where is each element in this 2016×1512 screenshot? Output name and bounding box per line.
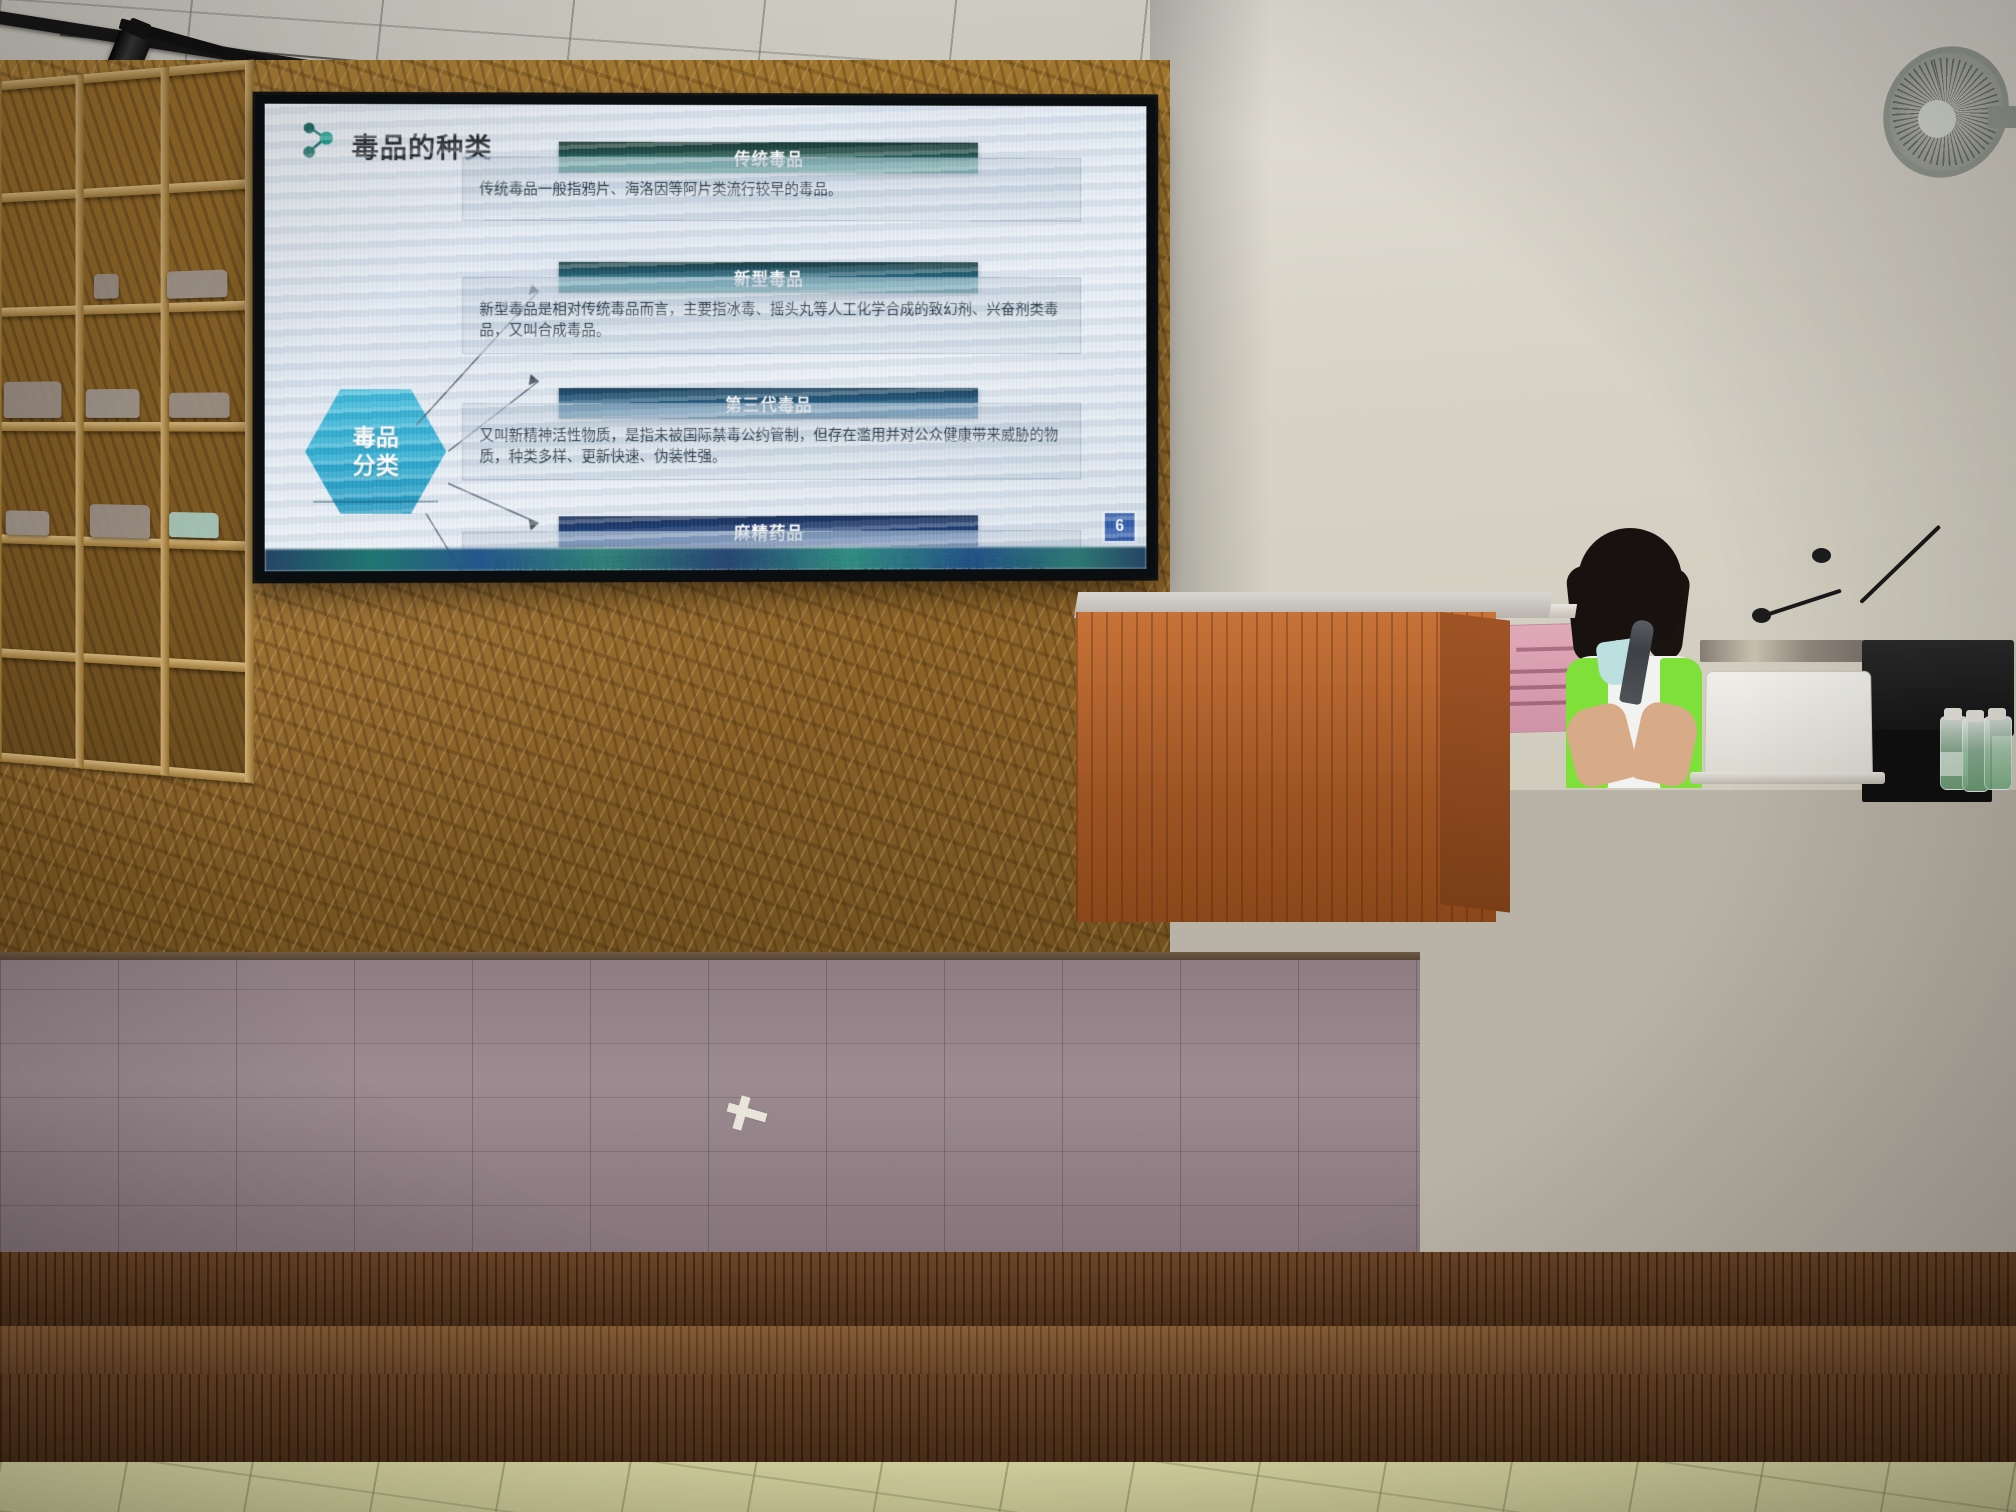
wall-fan-icon <box>1882 48 2010 176</box>
tile-floor <box>0 1462 2016 1512</box>
presentation-slide: 毒品的种类 毒品 分类 <box>265 104 1147 572</box>
shelf-rail <box>0 300 254 317</box>
hair-top <box>1578 528 1682 646</box>
mixer-knob-row[interactable] <box>1700 640 1880 662</box>
podium-side-panel <box>1440 612 1510 913</box>
cubby-display-shelving <box>0 59 254 782</box>
molecule-icon <box>301 122 347 162</box>
hexagon-label: 毒品 分类 <box>305 385 446 518</box>
presenter <box>1540 528 1720 788</box>
slide-number-badge: 6 <box>1103 511 1137 543</box>
step-tread-upper <box>0 1326 2016 1374</box>
laptop-screen[interactable]: hp <box>1704 671 1873 777</box>
gooseneck-mic-head-1 <box>1752 608 1771 623</box>
fan-hub <box>1918 100 1956 138</box>
pottery-item <box>94 273 119 299</box>
podium-front-panel <box>1076 612 1496 922</box>
card-item: 传统毒品 传统毒品一般指鸦片、海洛因等阿片类流行较早的毒品。 <box>462 156 1081 221</box>
lecture-hall-scene: 毒品的种类 毒品 分类 <box>0 0 2016 1512</box>
card-list: 传统毒品 传统毒品一般指鸦片、海洛因等阿片类流行较早的毒品。 新型毒品 新型毒品… <box>462 118 1101 571</box>
card-body: 传统毒品一般指鸦片、海洛因等阿片类流行较早的毒品。 <box>462 156 1081 221</box>
step-riser-lower <box>0 1374 2016 1462</box>
pottery-item <box>4 381 62 418</box>
bottle-cap <box>1966 710 1984 722</box>
hexagon-label-line1: 毒品 <box>353 423 399 451</box>
screen-surface: 毒品的种类 毒品 分类 <box>265 104 1147 572</box>
step-riser-upper <box>0 1252 2016 1326</box>
shelf-divider <box>161 67 169 775</box>
pottery-item <box>90 504 150 539</box>
classification-hexagon: 毒品 分类 <box>305 385 446 518</box>
pottery-item <box>86 389 140 418</box>
bottle-cap <box>1944 708 1962 720</box>
fan-mount-arm <box>1988 106 2016 128</box>
bottle-cap <box>1988 708 2006 720</box>
shelf-rail <box>0 648 254 673</box>
shelf-divider <box>0 81 2 760</box>
screen-bottom-artifact <box>265 547 1147 571</box>
card-body: 新型毒品是相对传统毒品而言，主要指冰毒、摇头丸等人工化学合成的致幻剂、兴奋剂类毒… <box>462 277 1081 354</box>
shelf-divider <box>76 74 84 768</box>
shelf-divider <box>245 59 254 782</box>
water-bottle <box>1984 716 2012 790</box>
card-body: 又叫新精神活性物质，是指未被国际禁毒公约管制，但存在滥用并对公众健康带来威胁的物… <box>462 403 1081 481</box>
shelf-cell-grid <box>0 59 254 782</box>
stage-floor <box>0 960 1420 1260</box>
hexagon-label-line2: 分类 <box>353 451 399 479</box>
shelf-rail <box>0 179 254 203</box>
pottery-item <box>6 510 50 535</box>
laptop-keyboard-base[interactable] <box>1690 772 1885 784</box>
pottery-item <box>169 512 219 538</box>
pottery-item <box>167 269 227 298</box>
card-item: 新型毒品 新型毒品是相对传统毒品而言，主要指冰毒、摇头丸等人工化学合成的致幻剂、… <box>462 277 1081 354</box>
card-item: 第三代毒品 又叫新精神活性物质，是指未被国际禁毒公约管制，但存在滥用并对公众健康… <box>462 403 1081 481</box>
shelf-rail <box>0 422 254 432</box>
pottery-item <box>169 392 229 417</box>
led-display-wall[interactable]: 毒品的种类 毒品 分类 <box>256 95 1156 581</box>
gooseneck-mic-head-2 <box>1812 548 1831 563</box>
